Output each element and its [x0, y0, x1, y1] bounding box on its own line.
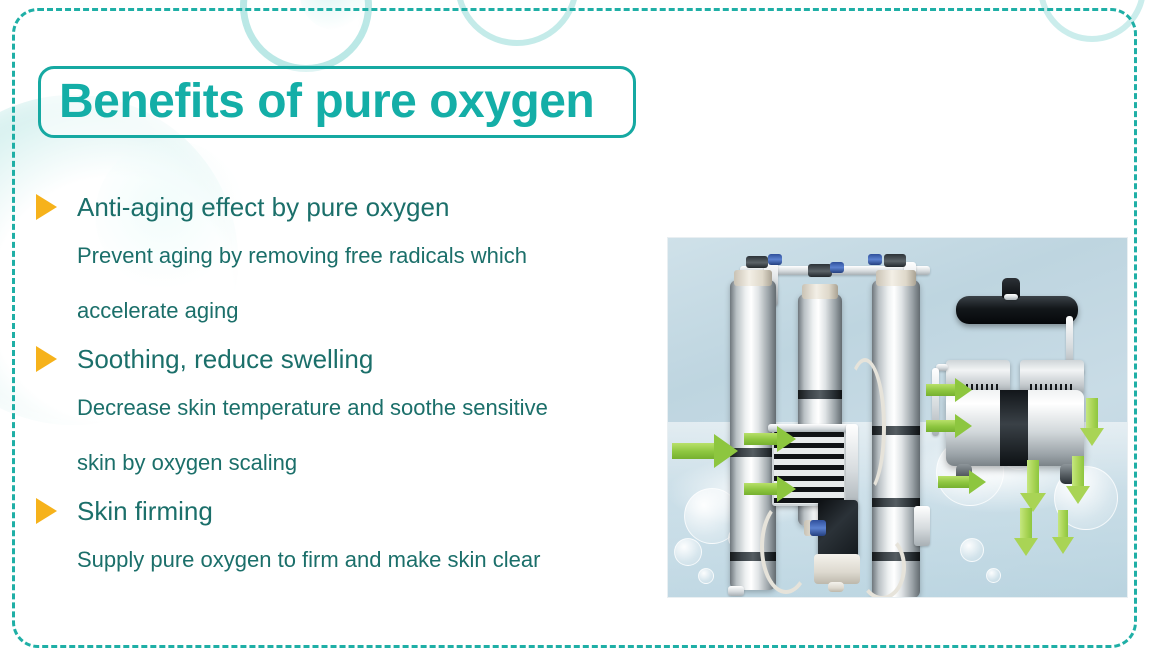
tubing-right [844, 358, 886, 496]
airflow-arrow-right-icon [938, 470, 986, 494]
valve-housing [814, 554, 860, 584]
benefit-description: Prevent aging by removing free radicals … [77, 228, 656, 338]
benefit-description-line: Decrease skin temperature and soothe sen… [77, 380, 656, 435]
tower-cap [734, 270, 772, 286]
list-item: Soothing, reduce swelling Decrease skin … [36, 338, 656, 490]
benefit-title: Skin firming [77, 497, 213, 526]
water-bubble-icon [674, 538, 702, 566]
compressor-center-band [1000, 390, 1028, 466]
tower-fitting [808, 264, 832, 277]
tower-foot [728, 586, 744, 596]
benefit-description-line: Prevent aging by removing free radicals … [77, 228, 656, 283]
water-bubble-icon [698, 568, 714, 584]
page-title-box: Benefits of pure oxygen [38, 66, 636, 138]
airflow-arrow-right-icon [926, 414, 972, 438]
list-item: Anti-aging effect by pure oxygen Prevent… [36, 186, 656, 338]
airflow-arrow-down-icon [1014, 508, 1038, 556]
tubing-bottom [858, 534, 906, 598]
airflow-arrow-down-icon [1066, 456, 1090, 504]
bubble-ring-b-icon [455, 0, 579, 46]
water-bubble-icon [960, 538, 984, 562]
benefit-description-line: Supply pure oxygen to firm and make skin… [77, 532, 656, 587]
slide-canvas: Benefits of pure oxygen Anti-aging effec… [0, 0, 1157, 666]
triangle-right-icon [36, 346, 57, 372]
benefits-list: Anti-aging effect by pure oxygen Prevent… [36, 186, 656, 587]
bubble-soft-top-icon [300, 0, 370, 30]
airflow-arrow-right-icon [672, 434, 738, 468]
tower-cap [876, 270, 916, 286]
valve-fitting-blue [810, 520, 826, 536]
airflow-arrow-right-icon [744, 476, 796, 502]
benefit-description: Decrease skin temperature and soothe sen… [77, 380, 656, 490]
tubing-left [760, 500, 812, 594]
valve-outlet [828, 582, 844, 592]
page-title: Benefits of pure oxygen [59, 78, 594, 126]
airflow-arrow-down-icon [1080, 398, 1104, 446]
airflow-arrow-down-icon [1052, 510, 1074, 554]
benefit-heading-row: Skin firming [36, 490, 656, 532]
bubble-ring-a-icon [240, 0, 372, 72]
tower-fitting-blue [868, 254, 882, 265]
triangle-right-icon [36, 194, 57, 220]
tower-fitting-blue [830, 262, 844, 273]
compressor-muffler [956, 296, 1078, 324]
tower-fitting [884, 254, 906, 267]
triangle-right-icon [36, 498, 57, 524]
tower-cap [802, 284, 838, 299]
tower-fitting-blue [768, 254, 782, 265]
tower-fitting [746, 256, 768, 268]
tower-foot [914, 506, 930, 546]
list-item: Skin firming Supply pure oxygen to firm … [36, 490, 656, 587]
benefit-heading-row: Anti-aging effect by pure oxygen [36, 186, 656, 228]
airflow-arrow-right-icon [926, 378, 972, 402]
benefit-title: Soothing, reduce swelling [77, 345, 373, 374]
airflow-arrow-down-icon [1020, 460, 1046, 512]
benefit-heading-row: Soothing, reduce swelling [36, 338, 656, 380]
benefit-description: Supply pure oxygen to firm and make skin… [77, 532, 656, 587]
muffler-collar [1004, 294, 1018, 300]
benefit-description-line: accelerate aging [77, 283, 656, 338]
benefit-description-line: skin by oxygen scaling [77, 435, 656, 490]
benefit-title: Anti-aging effect by pure oxygen [77, 193, 449, 222]
product-photo [667, 237, 1128, 598]
bubble-ring-c-icon [1038, 0, 1146, 42]
water-bubble-icon [986, 568, 1001, 583]
airflow-arrow-right-icon [744, 426, 796, 452]
